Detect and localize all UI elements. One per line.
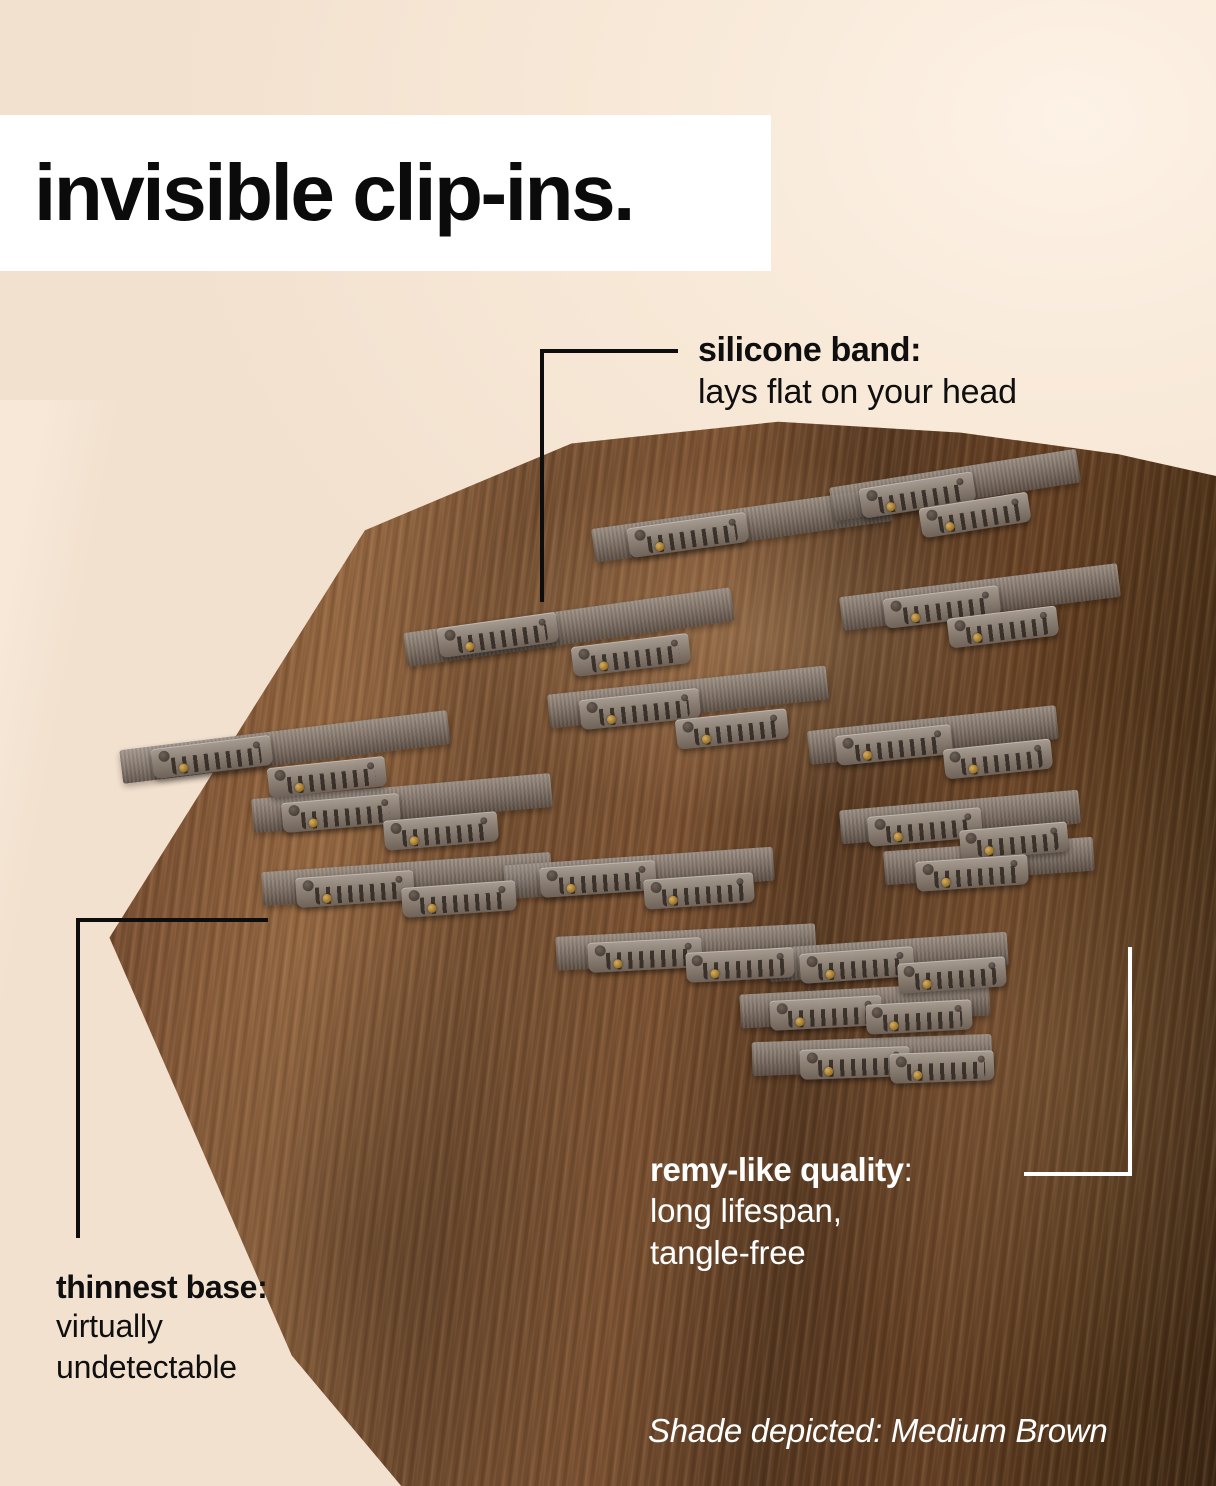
callout-silicone-band: silicone band: lays flat on your head xyxy=(698,330,1017,414)
shade-depicted-note: Shade depicted: Medium Brown xyxy=(648,1412,1107,1450)
headline-banner: invisible clip-ins. xyxy=(0,115,771,271)
clip-hinge-icon xyxy=(806,956,818,968)
clip-hinge-icon xyxy=(578,648,590,660)
clip-hinge-icon xyxy=(288,805,300,817)
leader-line-silicone-horizontal xyxy=(540,349,678,353)
hair-clip-icon xyxy=(685,947,794,983)
clip-hinge-icon xyxy=(806,1052,817,1063)
clip-hinge-icon xyxy=(302,880,314,892)
leader-line-silicone-vertical xyxy=(540,349,544,602)
callout-thinnest-heading: thinnest base: xyxy=(56,1268,267,1306)
callout-remy-heading: remy-like quality: xyxy=(650,1150,912,1190)
callout-thinnest-body-line1: virtually xyxy=(56,1306,267,1347)
callout-silicone-body: lays flat on your head xyxy=(698,370,1017,414)
clip-hinge-icon xyxy=(925,509,938,522)
clip-hinge-icon xyxy=(692,955,704,967)
clip-hinge-icon xyxy=(546,870,558,882)
callout-thinnest-base: thinnest base: virtually undetectable xyxy=(56,1268,267,1388)
clip-hinge-icon xyxy=(966,832,978,844)
hair-clip-icon xyxy=(865,999,972,1035)
leader-line-thinnest-vertical xyxy=(76,918,80,1238)
clip-hinge-icon xyxy=(650,882,662,894)
clip-hinge-icon xyxy=(594,945,606,957)
clip-hinge-icon xyxy=(874,818,886,830)
clip-hinge-icon xyxy=(444,629,456,641)
leader-line-remy-horizontal xyxy=(1024,1172,1132,1176)
leader-line-remy-vertical xyxy=(1128,947,1132,1176)
clip-rivet-icon xyxy=(913,1071,922,1080)
clip-hinge-icon xyxy=(842,737,854,749)
page-title: invisible clip-ins. xyxy=(0,153,633,233)
callout-remy-heading-colon: : xyxy=(904,1151,913,1188)
clip-hinge-icon xyxy=(953,620,965,632)
hair-clip-icon xyxy=(890,1050,995,1084)
clip-hinge-icon xyxy=(682,721,694,733)
clip-rivet-icon xyxy=(566,884,576,894)
clip-hinge-icon xyxy=(390,822,402,834)
clip-hinge-icon xyxy=(776,1003,788,1015)
callout-remy-body-line1: long lifespan, xyxy=(650,1190,912,1232)
clip-rivet-icon xyxy=(941,878,951,888)
clip-rivet-icon xyxy=(710,969,719,978)
callout-remy-body-line2: tangle-free xyxy=(650,1232,912,1274)
callout-thinnest-body-line2: undetectable xyxy=(56,1347,267,1388)
clip-hinge-icon xyxy=(158,750,170,762)
clip-hinge-icon xyxy=(872,1007,884,1019)
callout-remy-like-quality: remy-like quality: long lifespan, tangle… xyxy=(650,1150,912,1274)
clip-hinge-icon xyxy=(890,600,902,612)
clip-hinge-icon xyxy=(896,1056,907,1067)
callout-silicone-heading: silicone band: xyxy=(698,330,1017,370)
clip-hinge-icon xyxy=(586,701,598,713)
infographic-page: invisible clip-ins. silicone band: lays … xyxy=(0,0,1216,1486)
clip-hinge-icon xyxy=(866,489,879,502)
clip-hinge-icon xyxy=(949,751,961,763)
callout-remy-heading-text: remy-like quality xyxy=(650,1151,904,1188)
clip-hinge-icon xyxy=(408,890,420,902)
clip-hinge-icon xyxy=(634,529,646,541)
leader-line-thinnest-horizontal xyxy=(76,918,268,922)
clip-rivet-icon xyxy=(795,1017,804,1026)
clip-hinge-icon xyxy=(922,864,934,876)
clip-hinge-icon xyxy=(904,966,916,978)
clip-hinge-icon xyxy=(274,769,286,781)
